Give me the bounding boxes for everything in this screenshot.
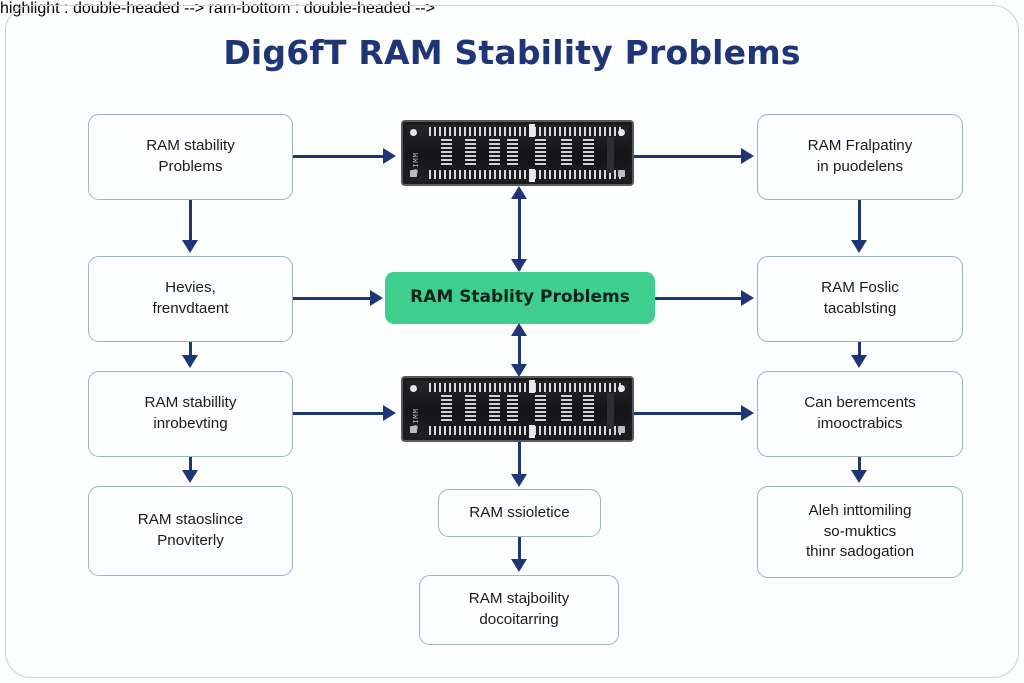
ram-marker-bottom-right [618, 170, 625, 177]
node-left-4[interactable]: RAM staoslince Pnoviterly [88, 486, 293, 576]
connector-highlight-to-right-2 [655, 297, 742, 300]
arrowhead-left-3-to-4 [182, 470, 198, 483]
ram-pins-top [429, 383, 622, 392]
connector-ram-top-to-right-1 [634, 155, 742, 158]
ram-pins-top [429, 127, 622, 136]
node-left-2[interactable]: Hevies, frenvdtaent [88, 256, 293, 342]
arrowhead-center-3-to-4 [511, 559, 527, 572]
ram-screw-hole-right [618, 385, 625, 392]
page-title: Dig6fT RAM Stability Problems [0, 33, 1024, 72]
node-right-3-text: Can beremcents imooctrabics [804, 393, 915, 435]
ram-end-block [607, 393, 614, 429]
connector-right-1-to-2 [858, 200, 861, 242]
ram-chip [583, 395, 594, 423]
arrowhead-right-2-to-3 [851, 355, 867, 368]
connector-left-3-to-ram-bottom [293, 412, 385, 415]
arrowhead-left-2-to-3 [182, 355, 198, 368]
node-center-highlight[interactable]: RAM Stablity Problems [385, 272, 655, 324]
ram-chip [465, 139, 476, 167]
node-left-1[interactable]: RAM stability Problems [88, 114, 293, 200]
ram-screw-hole-left [410, 385, 417, 392]
node-right-3[interactable]: Can beremcents imooctrabics [757, 371, 963, 457]
ram-end-block [607, 137, 614, 173]
ram-chip [465, 395, 476, 423]
ram-notch-top [529, 124, 535, 137]
ram-chip [441, 139, 452, 167]
node-right-2-text: RAM Foslic tacablsting [821, 278, 899, 320]
node-center-3-text: RAM ssioletice [469, 503, 569, 524]
ram-module-top-icon: DIMM [401, 120, 634, 186]
node-center-highlight-text: RAM Stablity Problems [410, 286, 630, 309]
node-right-1[interactable]: RAM Fralpatiny in puodelens [757, 114, 963, 200]
arrowhead-right-3-to-4 [851, 470, 867, 483]
ram-chip [507, 395, 518, 423]
arrowhead-ram-bottom-to-right-3 [741, 405, 754, 421]
connector-ram-bottom-to-right-3 [634, 412, 742, 415]
ram-chip [489, 139, 500, 167]
node-center-4-text: RAM stajboility docoitarring [469, 589, 569, 631]
connector-center-3-to-4 [518, 537, 521, 561]
ram-chip [561, 395, 572, 423]
ram-chip [441, 395, 452, 423]
node-left-4-text: RAM staoslince Pnoviterly [138, 510, 244, 552]
node-left-1-text: RAM stability Problems [146, 136, 235, 178]
ram-marker-bottom-right [618, 426, 625, 433]
ram-chip [561, 139, 572, 167]
arrowhead-ram-top-to-right-1 [741, 148, 754, 164]
node-center-4[interactable]: RAM stajboility docoitarring [419, 575, 619, 645]
arrowhead-left-1-to-ram-top [383, 148, 396, 164]
ram-chip [507, 139, 518, 167]
node-left-3[interactable]: RAM stabillity inrobevting [88, 371, 293, 457]
ram-module-bottom-icon: DIMM [401, 376, 634, 442]
arrowhead-left-3-to-ram-bottom [383, 405, 396, 421]
arrowhead-to-highlight-top [511, 259, 527, 272]
node-left-3-text: RAM stabillity inrobevting [145, 393, 237, 435]
node-left-2-text: Hevies, frenvdtaent [153, 278, 229, 320]
arrowhead-highlight-to-right-2 [741, 290, 754, 306]
node-right-1-text: RAM Fralpatiny in puodelens [808, 136, 913, 178]
connector-left-2-to-highlight [293, 297, 371, 300]
ram-screw-hole-right [618, 129, 625, 136]
ram-pins-bottom [429, 426, 622, 435]
ram-notch-bottom [529, 425, 535, 438]
arrowhead-to-ram-top [511, 186, 527, 199]
ram-chip [535, 139, 546, 167]
arrowhead-right-1-to-2 [851, 240, 867, 253]
ram-notch-top [529, 380, 535, 393]
node-right-4[interactable]: Aleh inttomiling so-muktics thinr sadoga… [757, 486, 963, 578]
ram-module-label: DIMM [412, 137, 422, 173]
node-right-4-text: Aleh inttomiling so-muktics thinr sadoga… [806, 501, 914, 564]
arrowhead-to-ram-bottom [511, 364, 527, 377]
diagram-canvas: Dig6fT RAM Stability Problems RAM stabil… [0, 0, 1024, 683]
ram-chip [583, 139, 594, 167]
node-center-3[interactable]: RAM ssioletice [438, 489, 601, 537]
ram-notch-bottom [529, 169, 535, 182]
arrowhead-to-highlight-bottom [511, 323, 527, 336]
ram-screw-hole-left [410, 129, 417, 136]
connector-left-1-to-2 [189, 200, 192, 242]
arrowhead-left-1-to-2 [182, 240, 198, 253]
connector-left-1-to-ram-top [293, 155, 385, 158]
ram-module-label: DIMM [412, 393, 422, 429]
connector-ram-bottom-to-center-3 [518, 442, 521, 476]
ram-chip [489, 395, 500, 423]
arrowhead-ram-bottom-to-center-3 [511, 474, 527, 487]
arrowhead-left-2-to-highlight [370, 290, 383, 306]
ram-pins-bottom [429, 170, 622, 179]
node-right-2[interactable]: RAM Foslic tacablsting [757, 256, 963, 342]
ram-chip [535, 395, 546, 423]
